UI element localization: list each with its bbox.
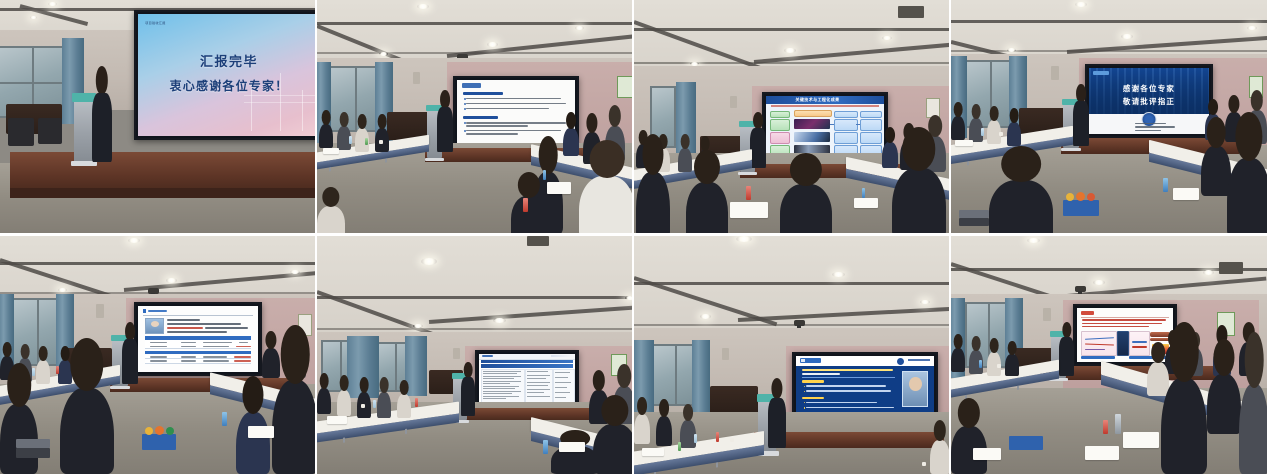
attendee	[377, 392, 391, 418]
photo-5[interactable]	[0, 236, 315, 474]
presenter-head	[1062, 322, 1071, 338]
laptop	[959, 218, 989, 226]
diagram-box	[794, 110, 831, 116]
attendee	[951, 116, 965, 140]
ceiling-beam	[634, 28, 949, 31]
table-cell-text	[150, 356, 167, 357]
wire-graphic	[244, 102, 315, 103]
diagram-box	[860, 111, 882, 117]
slide-text-line	[466, 130, 560, 132]
diagram-box	[834, 111, 857, 117]
table-cell-text	[181, 342, 195, 343]
attendee-head	[954, 334, 963, 349]
photo-grid-collage: 项目验收汇报 汇报完毕 衷心感谢各位专家！	[0, 0, 1267, 475]
slide-tag	[462, 83, 481, 87]
table-cell-text	[150, 342, 167, 343]
diagram-box	[860, 132, 882, 144]
presenter[interactable]	[768, 378, 786, 448]
diagram-box	[834, 132, 857, 144]
attendee-head	[400, 380, 409, 395]
slide-diagram: 关键技术与工程化成果	[766, 96, 884, 160]
table-text-line	[483, 386, 519, 387]
ceiling-downlight	[625, 296, 632, 300]
attendee-head	[360, 377, 369, 393]
waveform-trace	[1132, 341, 1147, 342]
university-logo	[551, 355, 572, 358]
waveform-trace	[1085, 349, 1106, 350]
attendee	[930, 440, 949, 474]
table-text-line	[527, 389, 550, 390]
table-text-line	[483, 398, 506, 399]
slide-tag	[1081, 311, 1094, 315]
attendee-foreground	[1227, 158, 1267, 233]
laptop-screen	[16, 439, 50, 449]
document-paper	[559, 442, 585, 452]
attendee-head	[990, 338, 999, 353]
attendee-head	[340, 112, 349, 127]
window	[652, 344, 696, 406]
table-text-line	[483, 376, 521, 377]
attendee-head	[681, 134, 690, 149]
podium-base	[110, 386, 130, 390]
water-bottle	[1163, 178, 1168, 192]
presenter-body	[1059, 337, 1074, 376]
attendee-head	[566, 112, 576, 129]
attendee	[563, 128, 579, 156]
slide-text-line	[466, 133, 518, 135]
wire-graphic	[244, 95, 315, 96]
photo-1[interactable]: 项目验收汇报 汇报完毕 衷心感谢各位专家！	[0, 0, 315, 233]
presenter-body	[750, 128, 766, 168]
ceiling-downlight	[1247, 26, 1257, 30]
presenter[interactable]	[122, 322, 138, 384]
slide-header	[796, 356, 934, 366]
bullet-dot	[804, 391, 806, 393]
thermos-bottle	[1115, 414, 1121, 434]
attendee-head	[1008, 341, 1017, 355]
presenter-head	[96, 66, 108, 95]
table-text-line	[527, 371, 548, 372]
table-cell-text-highlight	[234, 360, 251, 361]
presentation-screen: 感谢各位专家 敬请批评指正	[1085, 64, 1213, 138]
presenter[interactable]	[92, 66, 112, 162]
portrait-photo	[902, 371, 929, 407]
window	[329, 66, 379, 132]
presenter[interactable]	[750, 112, 766, 168]
attendee-head	[358, 114, 367, 129]
slide-subtitle-rule	[771, 105, 880, 107]
presenter-body	[461, 377, 475, 416]
bullet-dot	[804, 407, 806, 409]
attendee-head	[642, 134, 663, 175]
ceiling-vent	[1219, 262, 1243, 274]
slide-text-line	[1082, 319, 1166, 321]
attendee	[634, 414, 650, 444]
diagram-box	[770, 111, 791, 118]
ceiling-downlight	[1093, 280, 1105, 285]
water-bottle	[32, 368, 35, 376]
attendee-foreground	[317, 206, 345, 233]
attendee-head	[7, 363, 31, 406]
table-text-line	[527, 378, 546, 379]
ceiling-downlight	[30, 16, 37, 19]
ceiling-beam	[317, 328, 632, 330]
slide-tag	[800, 358, 821, 363]
footer-line	[1135, 130, 1161, 131]
wall-speaker	[413, 72, 420, 84]
university-logo	[1142, 112, 1157, 127]
presenter[interactable]	[1059, 322, 1074, 376]
wall-speaker	[730, 96, 737, 108]
document-paper	[973, 448, 1001, 460]
ceiling-beam	[951, 20, 1267, 23]
attendee	[319, 124, 333, 148]
water-bottle	[222, 412, 227, 426]
attendee-foreground	[892, 168, 946, 233]
slide-text-line	[167, 331, 227, 333]
table-text-line	[483, 393, 512, 394]
attendee	[951, 348, 965, 372]
table-text-line	[483, 383, 510, 384]
presenter[interactable]	[1073, 84, 1089, 146]
presenter[interactable]	[461, 362, 475, 416]
photo-8[interactable]	[951, 236, 1267, 474]
attendee	[397, 394, 411, 418]
attendee	[1005, 354, 1019, 376]
slide-heading-1	[463, 92, 503, 95]
logo-emblem	[897, 358, 904, 365]
fruit-box	[142, 434, 176, 450]
curtain	[692, 340, 710, 412]
ceiling-vent	[527, 236, 549, 246]
table-cell-text	[239, 342, 249, 343]
ceiling-downlight	[417, 4, 429, 9]
table-text-line	[555, 382, 571, 383]
attendee-head	[590, 140, 625, 178]
slide-footer-band	[1089, 114, 1209, 134]
attendee	[1201, 146, 1231, 196]
fruit-box	[1063, 200, 1099, 216]
ceiling-downlight	[736, 236, 752, 242]
table-leg	[343, 438, 345, 443]
table-cell-text	[203, 342, 232, 343]
ceiling-downlight	[575, 26, 584, 30]
document-paper	[730, 202, 768, 218]
podium-base	[1061, 148, 1081, 152]
diagram-box	[770, 132, 791, 144]
slide-line-1: 感谢各位专家	[1089, 83, 1209, 94]
slide-thank-you-blue: 感谢各位专家 敬请批评指正	[1089, 68, 1209, 134]
table-cell-text-highlight	[234, 356, 251, 357]
slide-line-1: 汇报完毕	[138, 51, 315, 70]
presenter-body	[437, 107, 453, 152]
presenter[interactable]	[437, 90, 453, 152]
ceiling-downlight	[128, 238, 140, 243]
slide-text-line	[466, 122, 565, 124]
attendee-foreground	[272, 380, 315, 474]
ceiling-downlight	[784, 48, 796, 53]
portrait-photo	[145, 318, 164, 335]
cv-title-line	[802, 373, 841, 375]
slide-text-line	[466, 98, 560, 100]
ceiling-beam	[317, 296, 632, 299]
ceiling-beam	[634, 282, 949, 285]
attendee-head	[885, 127, 895, 143]
table-text-line	[483, 391, 521, 392]
window-mullion	[675, 346, 677, 404]
water-bottle	[678, 442, 681, 451]
attendee-head	[1001, 146, 1041, 182]
chair	[38, 118, 62, 144]
ceiling-downlight	[48, 2, 57, 6]
water-bottle	[694, 434, 697, 443]
photo-7[interactable]	[634, 236, 949, 474]
attendee-foreground	[1161, 378, 1207, 474]
table-text-line	[555, 392, 570, 393]
attendee	[337, 390, 351, 416]
ceiling-beam	[634, 62, 949, 64]
figure-panel-dark	[1117, 331, 1129, 357]
presenter-head	[771, 378, 782, 399]
slide-outline	[457, 80, 575, 144]
slide-text-line	[167, 319, 201, 321]
attendee-head	[378, 114, 387, 129]
attendee-head	[972, 104, 981, 119]
fruit	[145, 427, 153, 435]
slide-tag	[1093, 71, 1110, 75]
document-paper	[1173, 188, 1199, 200]
cv-bullet-line	[806, 390, 892, 392]
attendee-head	[380, 377, 389, 393]
podium-base	[71, 161, 97, 166]
slide-text-line	[167, 323, 241, 325]
wall-speaker	[1043, 308, 1051, 321]
tissue-box	[1009, 436, 1043, 450]
diagram-image	[794, 132, 829, 142]
water-bottle	[56, 366, 59, 374]
slide-line-2: 衷心感谢各位专家！	[138, 77, 315, 94]
ceiling-downlight	[421, 258, 437, 265]
fruit	[1066, 193, 1074, 201]
attendee-foreground	[636, 172, 670, 233]
figure-caption-bar	[1081, 356, 1116, 359]
photo-3[interactable]: 关键技术与工程化成果	[634, 0, 949, 233]
slide-text-line	[1082, 323, 1163, 325]
fruit	[166, 427, 174, 435]
window-mullion	[395, 344, 397, 390]
attendee	[1147, 362, 1169, 396]
table-leg	[654, 472, 656, 474]
bullet-dot	[804, 386, 806, 388]
cv-bullet-line	[806, 385, 886, 387]
slide-text-line	[205, 327, 248, 329]
slide-profile-tables	[138, 306, 258, 372]
paper-cup	[922, 462, 926, 466]
wall-speaker	[722, 348, 729, 360]
ceiling-downlight	[920, 300, 930, 304]
attendee	[882, 142, 898, 168]
window	[12, 298, 60, 366]
diagram-box	[834, 119, 857, 131]
slide-rule	[143, 315, 253, 316]
document-paper	[642, 448, 664, 456]
attendee-foreground	[236, 412, 270, 474]
attendee-foreground	[579, 176, 632, 233]
attendee-head	[972, 336, 981, 351]
presenter-head	[1076, 84, 1086, 103]
ceiling-downlight	[166, 278, 177, 283]
attendee-head	[601, 395, 628, 426]
paper-cup	[730, 438, 734, 442]
ceiling-downlight	[487, 42, 498, 47]
podium-base	[425, 158, 444, 162]
attendee-foreground	[60, 388, 114, 474]
slide-corner-tag: 项目验收汇报	[145, 20, 165, 25]
podium-base	[738, 172, 757, 176]
attendee-head	[683, 404, 693, 421]
slide-rule	[1081, 317, 1169, 318]
document-paper	[1085, 446, 1119, 460]
water-bottle	[373, 400, 376, 408]
logo-wordmark	[908, 359, 930, 361]
attendee-foreground	[1239, 384, 1267, 474]
figure-panel	[1081, 331, 1118, 357]
wall-speaker	[96, 304, 104, 318]
attendee	[1007, 122, 1021, 146]
table-text-line	[527, 396, 550, 397]
attendee-head	[1228, 95, 1239, 114]
photo-4[interactable]: 感谢各位专家 敬请批评指正	[951, 0, 1267, 233]
chair	[8, 118, 34, 146]
stage-edge	[10, 188, 315, 198]
attendee-head	[3, 342, 12, 357]
university-logo	[897, 358, 930, 364]
table-text-line	[483, 371, 521, 372]
diagram-image	[794, 119, 829, 129]
table-text-line	[483, 373, 518, 374]
table-band	[481, 360, 573, 364]
projector	[794, 320, 805, 326]
slide-thank-you: 项目验收汇报 汇报完毕 衷心感谢各位专家！	[138, 14, 315, 136]
diagram-arrow	[830, 124, 835, 125]
attendee-head	[265, 331, 276, 350]
table-column	[553, 369, 575, 404]
document-paper	[248, 426, 274, 438]
attendee-head	[1010, 108, 1019, 123]
attendee-foreground	[780, 184, 832, 233]
presenter-head	[440, 90, 450, 109]
table-text-line	[555, 387, 567, 388]
presenter-body	[92, 93, 112, 162]
attendee-head	[637, 397, 647, 416]
attendee-head	[322, 110, 331, 125]
document-paper	[1123, 432, 1159, 448]
water-bottle	[543, 440, 548, 454]
slide-tag	[482, 355, 494, 357]
attendee-head	[1151, 342, 1165, 363]
presenter-head	[753, 112, 763, 129]
attendee-head	[61, 346, 70, 361]
slide-heading-2	[463, 116, 498, 119]
photo-6[interactable]	[317, 236, 632, 474]
table-text-line	[483, 396, 519, 397]
ceiling-downlight	[882, 36, 892, 40]
ceiling-downlight	[1203, 270, 1214, 275]
ceiling-downlight	[1121, 34, 1133, 39]
table-text-line	[483, 381, 521, 382]
attendee-head	[954, 102, 963, 117]
attendee	[262, 348, 280, 378]
wall-speaker	[453, 348, 460, 359]
ceiling-downlight	[1007, 48, 1016, 52]
cv-section-heading	[802, 397, 824, 399]
attendee-head	[1170, 322, 1199, 382]
bullet-dot	[804, 402, 806, 404]
ceiling-downlight	[700, 314, 711, 319]
slide-text-line	[466, 125, 527, 127]
waveform-trace	[1085, 338, 1114, 341]
paper-cup	[379, 140, 383, 144]
table-leg	[385, 158, 387, 162]
cable-image	[1150, 332, 1170, 337]
attendee-head	[39, 346, 48, 361]
photo-2[interactable]	[317, 0, 632, 233]
document-paper	[955, 140, 973, 146]
wall-notice-board	[617, 76, 632, 98]
document-paper	[854, 198, 878, 208]
cv-section-heading	[802, 380, 824, 382]
attendee-head	[281, 325, 310, 383]
attendee-head	[958, 398, 980, 428]
paper-cup	[361, 404, 365, 408]
table-text-line	[527, 385, 548, 386]
slide-tag	[143, 309, 147, 312]
attendee-foreground	[989, 180, 1053, 233]
table-text-line	[483, 378, 514, 379]
table-text-line	[527, 392, 544, 393]
ceiling-downlight	[1027, 238, 1040, 243]
attendee	[678, 148, 692, 172]
water-bottle	[415, 398, 418, 407]
water-bottle	[523, 198, 528, 212]
cv-bullet-line	[806, 402, 878, 404]
tower-graphic	[302, 90, 303, 131]
paper-cup	[999, 132, 1003, 136]
attendee-head	[340, 375, 349, 391]
diagram-box	[770, 119, 791, 131]
podium[interactable]	[74, 100, 94, 162]
attendee-foreground	[686, 182, 728, 233]
attendee-head	[1208, 99, 1218, 115]
slide-dense-table	[479, 354, 575, 404]
fruit	[1076, 192, 1085, 201]
cv-name-line	[802, 369, 893, 371]
ceiling-downlight	[379, 52, 388, 56]
table-leg	[329, 167, 331, 171]
cv-bullet-line	[806, 407, 894, 409]
presentation-screen: 项目验收汇报 汇报完毕 衷心感谢各位专家！	[134, 10, 315, 140]
ceiling-beam	[0, 262, 315, 265]
ceiling-downlight	[493, 318, 506, 323]
water-bottle	[862, 188, 865, 198]
table-text-line	[483, 388, 516, 389]
attendee	[36, 360, 50, 384]
waveform-trace	[1132, 346, 1147, 347]
attendee-head	[1207, 117, 1226, 148]
figure-panel	[1129, 331, 1150, 357]
ceiling-downlight	[1075, 2, 1087, 7]
slide-text-line	[466, 103, 565, 105]
